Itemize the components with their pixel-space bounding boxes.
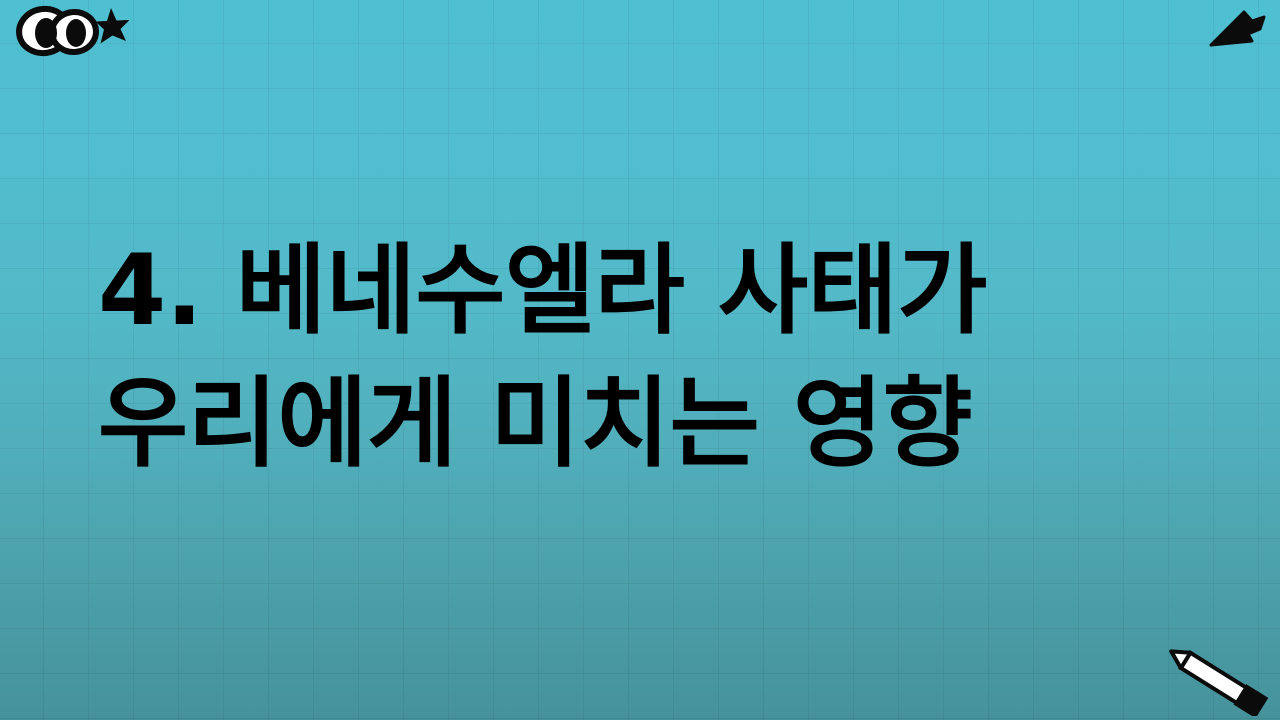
- page-title: 4. 베네수엘라 사태가 우리에게 미치는 영향: [98, 222, 1190, 494]
- star-icon: [96, 8, 130, 44]
- pupil-left-icon: [35, 18, 57, 48]
- pupil-right-icon: [66, 19, 86, 47]
- arrow-cursor-icon[interactable]: [1208, 6, 1266, 52]
- headline-line-1: 4. 베네수엘라 사태가: [98, 222, 1190, 361]
- pencil-icon[interactable]: [1162, 644, 1272, 716]
- arrow-shape: [1211, 12, 1264, 45]
- headline-line-2: 우리에게 미치는 영향: [98, 355, 1190, 494]
- slide-canvas: 4. 베네수엘라 사태가 우리에게 미치는 영향: [0, 0, 1280, 720]
- pencil-body: [1181, 653, 1247, 703]
- cartoon-eyes-star-icon[interactable]: [10, 4, 130, 60]
